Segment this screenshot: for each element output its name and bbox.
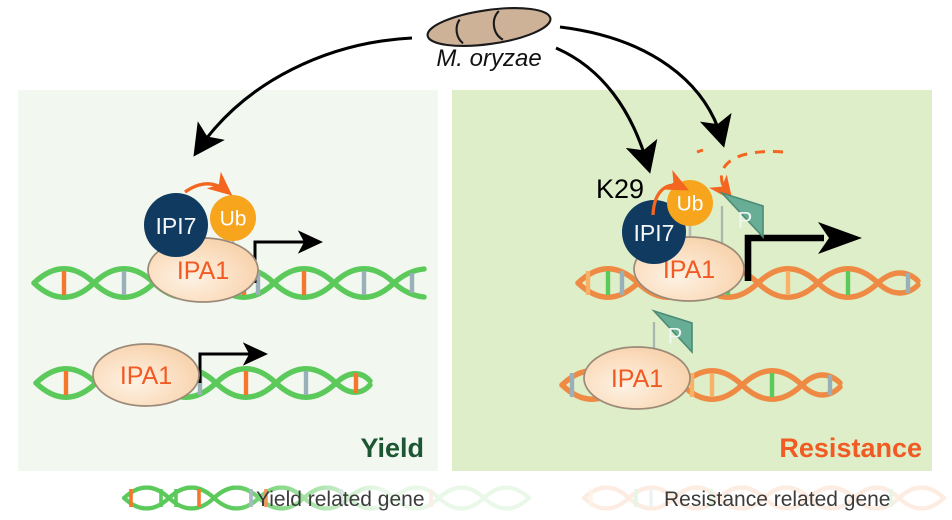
panel-label-yield: Yield [360, 433, 424, 463]
right-ipa1-top-label: IPA1 [663, 256, 715, 284]
legend-item-yield-gene: Yield related gene [124, 488, 529, 512]
right-phospho-label-top: P [738, 208, 753, 233]
left-ipa1-top-label: IPA1 [177, 257, 229, 285]
left-ub-node: Ub [210, 195, 256, 241]
right-ub-node: Ub [667, 180, 713, 226]
figure-canvas: IPA1 IPI7 Ub [0, 0, 952, 520]
legend-label-resistance-gene: Resistance related gene [664, 488, 890, 511]
left-ub-label: Ub [220, 208, 247, 231]
left-ipi7-node: IPI7 [144, 193, 208, 257]
left-ipa1-bottom-label: IPA1 [120, 362, 172, 390]
right-ipa1-bottom: IPA1 [584, 347, 690, 409]
pathogen-label: M. oryzae [436, 45, 541, 72]
diagram-svg: IPA1 IPI7 Ub [0, 0, 952, 520]
legend-item-resistance-gene: Resistance related gene [584, 488, 944, 512]
legend-label-yield-gene: Yield related gene [256, 488, 425, 511]
right-ipa1-bottom-label: IPA1 [611, 365, 663, 393]
right-linkage-label: K29 [596, 174, 644, 204]
left-ipa1-bottom: IPA1 [93, 344, 199, 406]
right-ipi7-label: IPI7 [634, 220, 675, 246]
left-ipi7-label: IPI7 [156, 213, 197, 239]
right-ub-label: Ub [677, 193, 704, 216]
right-phospho-label-bottom: P [668, 324, 683, 349]
panel-label-resistance: Resistance [779, 433, 922, 463]
